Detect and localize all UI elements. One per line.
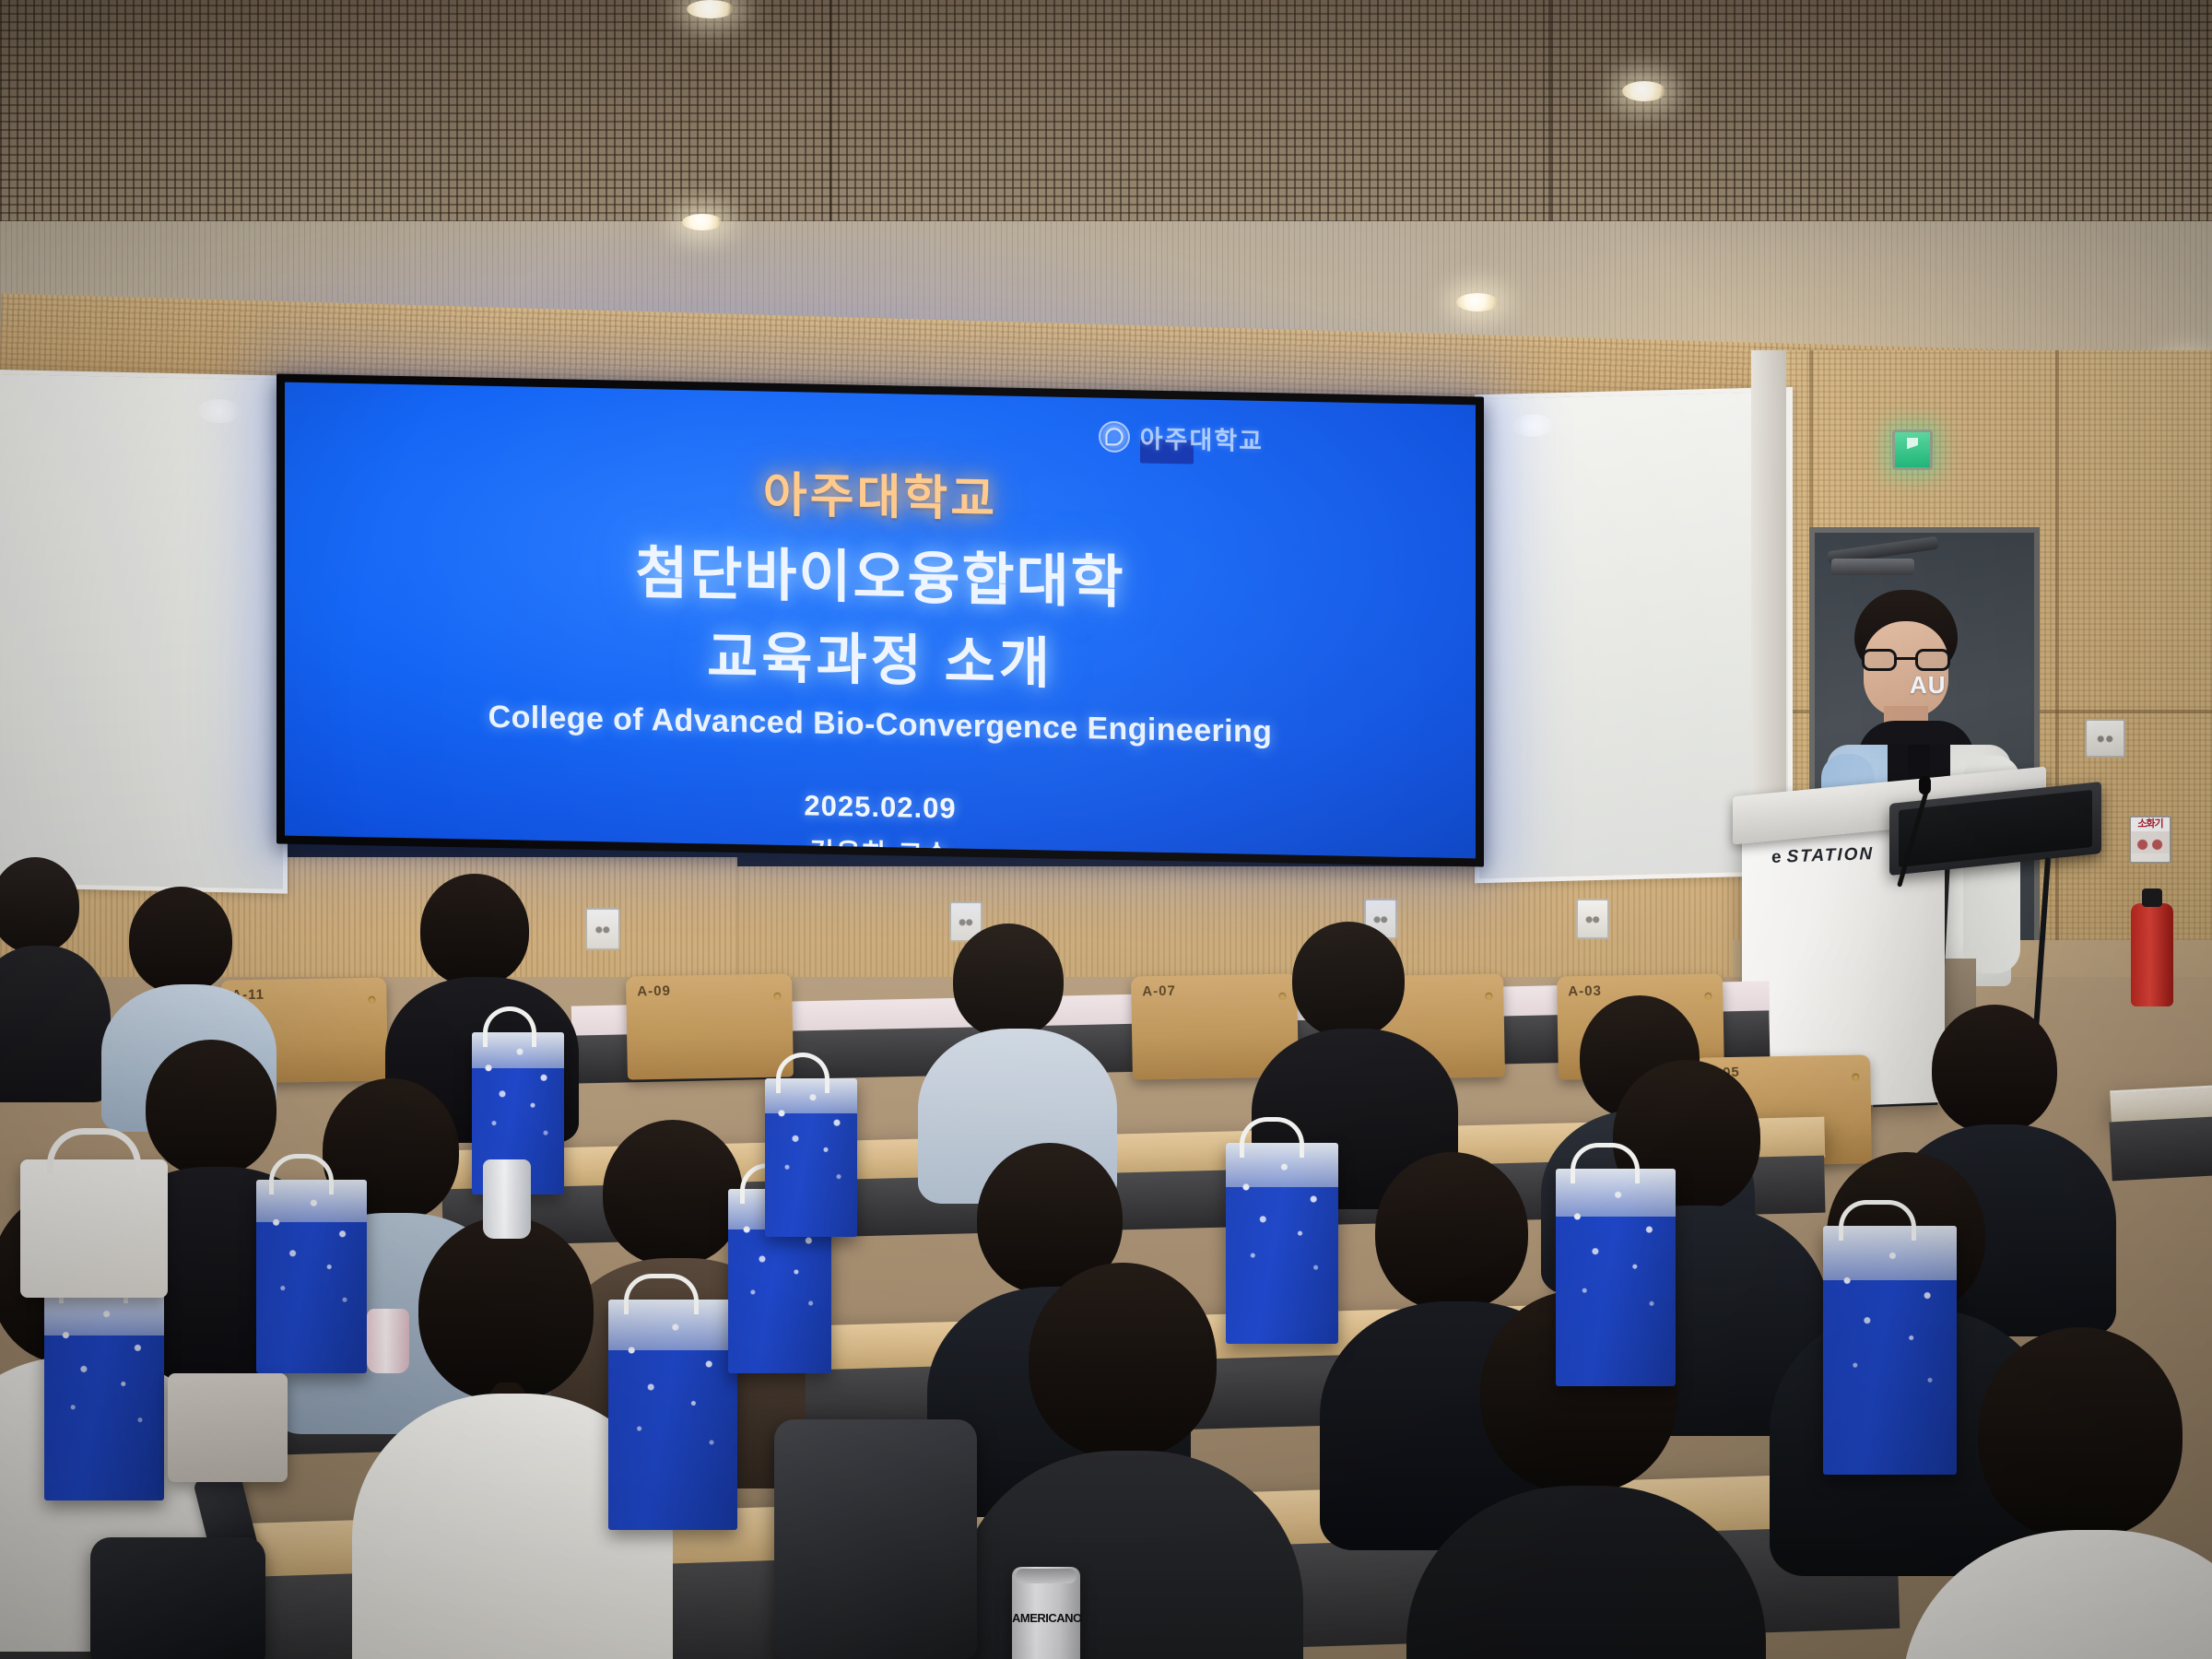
gift-bag <box>256 1180 367 1373</box>
eyeglasses-icon <box>1862 649 1950 671</box>
fire-extinguisher-sign-label: 소화기 <box>2131 818 2170 831</box>
person-head <box>146 1040 276 1176</box>
jacket-logo: AU <box>1910 671 1947 700</box>
ceiling-seam <box>829 0 832 230</box>
seat-a09[interactable]: A-09 <box>626 973 794 1079</box>
audience-person <box>1279 922 1418 1161</box>
person-body <box>1406 1486 1766 1659</box>
gift-bag <box>44 1288 164 1500</box>
tumbler <box>367 1309 409 1373</box>
person-head <box>1292 922 1405 1038</box>
power-outlet-icon <box>585 908 620 950</box>
person-head <box>1375 1152 1528 1311</box>
podium-brand-label: eSTATION <box>1771 844 1874 868</box>
podium-brand-mark: e <box>1771 848 1783 867</box>
person-head <box>418 1217 594 1401</box>
person-head <box>129 887 232 994</box>
downlight-icon <box>1456 293 1499 312</box>
seat-label: A-07 <box>1142 983 1176 1000</box>
person-head <box>1029 1263 1217 1458</box>
podium-brand-text: STATION <box>1787 844 1875 866</box>
downlight-icon <box>1622 81 1666 101</box>
gift-bag <box>1556 1169 1676 1386</box>
beverage-can: AMERICANO <box>1012 1567 1080 1659</box>
gift-bag <box>608 1300 737 1530</box>
fire-extinguisher-icon <box>2131 903 2173 1006</box>
presentation-slide: 아주대학교 아주대학교 첨단바이오융합대학 교육과정 소개 College of… <box>285 382 1476 859</box>
wall-seam <box>1809 350 1813 535</box>
perforated-ceiling-panels <box>0 0 2212 230</box>
side-table-front <box>2109 1116 2212 1182</box>
person-head <box>0 857 79 953</box>
whiteboard-left <box>0 369 288 893</box>
ceiling-seam <box>1548 0 1551 230</box>
power-outlet-icon <box>1576 899 1609 939</box>
audience-person <box>0 857 101 1097</box>
backpack <box>90 1537 265 1659</box>
downlight-icon <box>682 214 723 230</box>
ajou-crest-icon <box>1099 420 1130 453</box>
gift-bag <box>1823 1226 1957 1475</box>
audience-person <box>1954 1327 2212 1659</box>
slide-text-block: 아주대학교 첨단바이오융합대학 교육과정 소개 College of Advan… <box>285 447 1476 859</box>
wall-control-panel[interactable] <box>2085 719 2125 758</box>
handbag <box>168 1373 288 1482</box>
person-head <box>420 874 529 986</box>
fire-extinguisher-sign-pictogram <box>2131 831 2170 853</box>
projection-screen: 아주대학교 아주대학교 첨단바이오융합대학 교육과정 소개 College of… <box>276 373 1484 866</box>
person-head <box>1932 1005 2057 1134</box>
microphone-head <box>1919 776 1931 794</box>
university-logo: 아주대학교 <box>1099 418 1264 457</box>
tumbler <box>483 1159 531 1239</box>
gift-bag <box>1226 1143 1338 1344</box>
university-wordmark: 아주대학교 <box>1140 418 1264 457</box>
gift-bag <box>765 1078 857 1237</box>
person-head <box>1978 1327 2183 1539</box>
backpack <box>774 1419 977 1659</box>
slide-subtitle-english: College of Advanced Bio-Convergence Engi… <box>285 696 1476 755</box>
can-lid <box>1016 1569 1077 1583</box>
person-body <box>957 1451 1303 1659</box>
downlight-icon <box>687 0 735 18</box>
slide-meta-block: 2025.02.09 김은하 교수 (ehkim01@ajou.ac.kr) <box>285 780 1476 859</box>
handbag <box>20 1159 168 1298</box>
door-closer-body <box>1831 559 1914 575</box>
exit-running-person-icon <box>1892 429 1933 470</box>
person-body <box>0 946 111 1102</box>
audience-person <box>396 1217 627 1641</box>
can-label: AMERICANO <box>1012 1611 1080 1625</box>
fire-extinguisher-sign: 소화기 <box>2129 816 2171 864</box>
seat-label: A-09 <box>637 983 671 1000</box>
audience-person <box>942 924 1080 1154</box>
person-head <box>953 924 1064 1038</box>
lecture-hall-photo: 아주대학교 아주대학교 첨단바이오융합대학 교육과정 소개 College of… <box>0 0 2212 1659</box>
